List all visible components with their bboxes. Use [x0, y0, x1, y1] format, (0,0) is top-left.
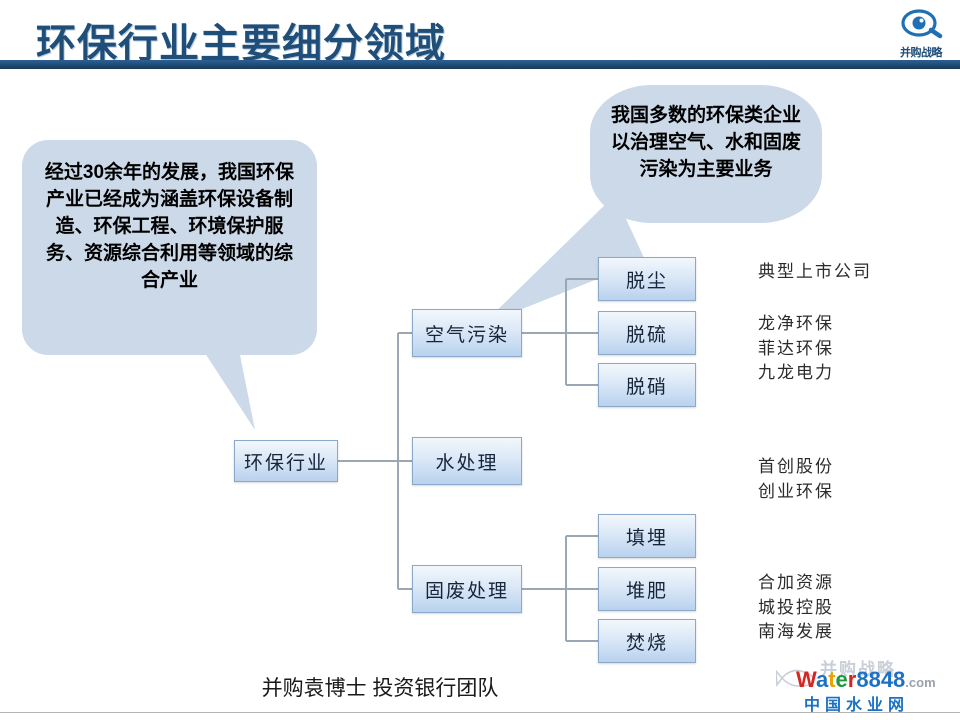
companies-header-label: 典型上市公司 — [758, 260, 872, 285]
company-item: 南海发展 — [758, 620, 834, 645]
watermark-brand-part: .com — [905, 675, 935, 690]
company-item: 龙净环保 — [758, 312, 834, 337]
title-divider-bar — [0, 60, 960, 69]
title-divider-highlight — [0, 69, 960, 71]
node-leaf-denitrify[interactable]: 脱硝 — [598, 363, 696, 407]
eye-magnifier-icon — [890, 4, 952, 44]
company-item: 菲达环保 — [758, 337, 834, 362]
watermark-brand: Water8848.com — [796, 667, 936, 693]
watermark: 并购战略 Water8848.com 中国水业网 — [778, 655, 954, 713]
watermark-brand-part: W — [796, 667, 816, 692]
companies-header: 典型上市公司 — [758, 260, 872, 285]
watermark-brand-part: 8848 — [856, 667, 905, 692]
node-branch-water[interactable]: 水处理 — [412, 437, 522, 485]
node-branch-solidwaste[interactable]: 固废处理 — [412, 565, 522, 613]
company-item: 合加资源 — [758, 571, 834, 596]
watermark-brand-part: e — [836, 667, 848, 692]
node-root[interactable]: 环保行业 — [234, 440, 338, 482]
footer-caption: 并购袁博士 投资银行团队 — [0, 672, 760, 702]
callout-left: 经过30余年的发展，我国环保产业已经成为涵盖环保设备制造、环保工程、环境保护服务… — [22, 140, 317, 355]
watermark-subtitle: 中国水业网 — [804, 691, 909, 715]
companies-group-air: 龙净环保 菲达环保 九龙电力 — [758, 312, 834, 386]
slide-canvas: 环保行业主要细分领域 并购战略 经过30余年的发展，我国环保产业已经成为涵盖环保… — [0, 0, 960, 720]
company-item: 九龙电力 — [758, 361, 834, 386]
companies-group-water: 首创股份 创业环保 — [758, 455, 834, 504]
node-leaf-landfill[interactable]: 填埋 — [598, 514, 696, 558]
node-branch-air[interactable]: 空气污染 — [412, 309, 522, 357]
company-item: 创业环保 — [758, 480, 834, 505]
node-leaf-desulfur[interactable]: 脱硫 — [598, 311, 696, 355]
company-item: 首创股份 — [758, 455, 834, 480]
node-leaf-incinerate[interactable]: 焚烧 — [598, 619, 696, 663]
callout-right: 我国多数的环保类企业以治理空气、水和固废污染为主要业务 — [590, 85, 822, 223]
company-item: 城投控股 — [758, 596, 834, 621]
title-bar: 环保行业主要细分领域 — [0, 0, 960, 78]
node-leaf-dust[interactable]: 脱尘 — [598, 257, 696, 301]
watermark-brand-part: t — [828, 667, 835, 692]
brand-logo-label: 并购战略 — [890, 44, 952, 60]
node-leaf-compost[interactable]: 堆肥 — [598, 567, 696, 611]
watermark-brand-part: a — [816, 667, 828, 692]
brand-logo: 并购战略 — [890, 4, 952, 66]
companies-group-solidwaste: 合加资源 城投控股 南海发展 — [758, 571, 834, 645]
